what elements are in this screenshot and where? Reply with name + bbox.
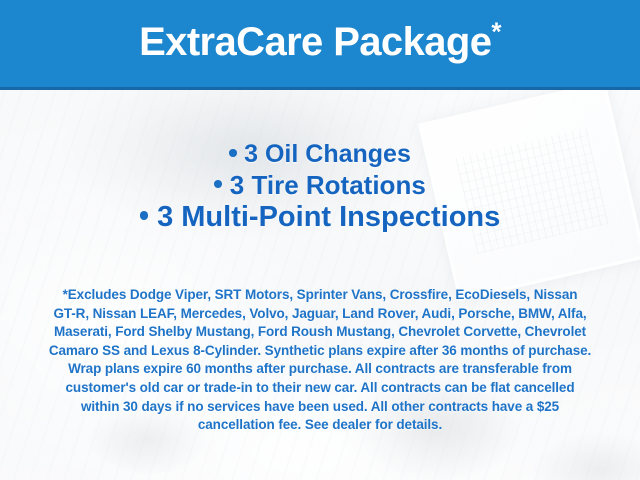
header-banner: ExtraCare Package*	[0, 0, 640, 90]
disclaimer-line: Wrap plans expire 60 months after purcha…	[28, 360, 612, 379]
disclaimer-line: customer's old car or trade-in to their …	[28, 379, 612, 398]
title-asterisk: *	[491, 16, 501, 46]
page-title-text: ExtraCare Package	[139, 20, 491, 64]
disclaimer-line: cancellation fee. See dealer for details…	[28, 416, 612, 435]
list-item-label: 3 Multi-Point Inspections	[157, 201, 500, 233]
extracare-package-ad: ExtraCare Package* 3 Oil Changes 3 Tire …	[0, 0, 640, 480]
list-item: 3 Oil Changes	[0, 140, 640, 170]
benefits-list: 3 Oil Changes 3 Tire Rotations 3 Multi-P…	[0, 140, 640, 234]
list-item-label: 3 Tire Rotations	[230, 170, 426, 200]
bullet-dot-icon	[214, 180, 222, 188]
list-item: 3 Multi-Point Inspections	[0, 200, 640, 234]
disclaimer-line: GT-R, Nissan LEAF, Mercedes, Volvo, Jagu…	[28, 305, 612, 324]
bullet-dot-icon	[229, 149, 237, 157]
disclaimer-line: *Excludes Dodge Viper, SRT Motors, Sprin…	[28, 286, 612, 305]
disclaimer-line: Maserati, Ford Shelby Mustang, Ford Rous…	[28, 323, 612, 342]
disclaimer-text: *Excludes Dodge Viper, SRT Motors, Sprin…	[28, 286, 612, 435]
disclaimer-line: within 30 days if no services have been …	[28, 398, 612, 417]
list-item: 3 Tire Rotations	[0, 170, 640, 201]
bullet-dot-icon	[140, 211, 149, 220]
disclaimer-line: Camaro SS and Lexus 8-Cylinder. Syntheti…	[28, 342, 612, 361]
list-item-label: 3 Oil Changes	[244, 140, 411, 168]
page-title: ExtraCare Package*	[139, 22, 501, 66]
